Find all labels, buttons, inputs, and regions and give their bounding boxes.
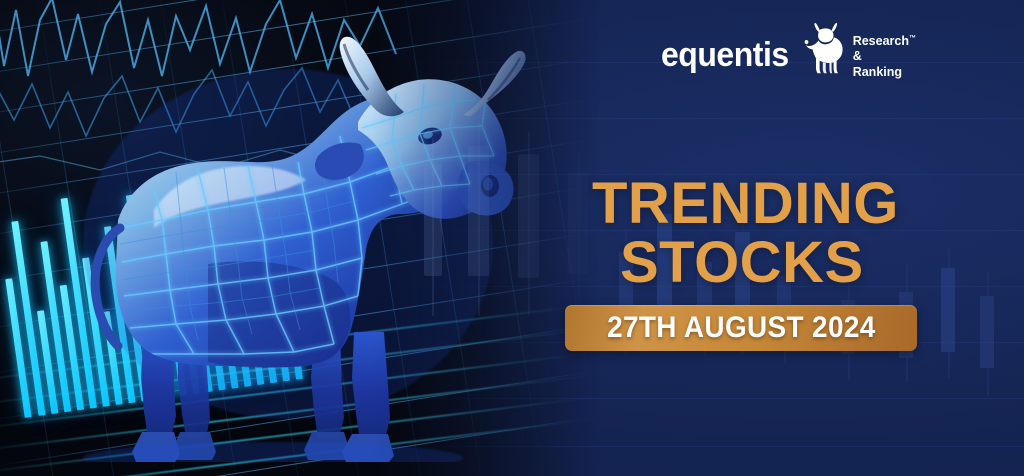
trademark-symbol: ™ (909, 34, 916, 41)
date-badge-label: 27TH AUGUST 2024 (607, 311, 876, 345)
logo-tagline-ranking: Ranking (853, 65, 916, 81)
title-line-1: TRENDING (592, 171, 899, 236)
equentis-logo[interactable]: equentis Rese (661, 26, 916, 84)
trending-stocks-banner: equentis Rese (0, 0, 1024, 476)
logo-tagline-research: Research (853, 34, 909, 48)
bull-photo-region (0, 0, 600, 476)
title-line-2: STOCKS (620, 233, 899, 292)
logo-wordmark: equentis (661, 38, 789, 72)
logo-tagline-amp: & (853, 49, 916, 65)
bull-logo-icon (804, 22, 846, 80)
page-title: TRENDING STOCKS (592, 174, 899, 292)
date-badge: 27TH AUGUST 2024 (565, 305, 917, 351)
logo-tagline: Research™ & Ranking (853, 34, 916, 81)
